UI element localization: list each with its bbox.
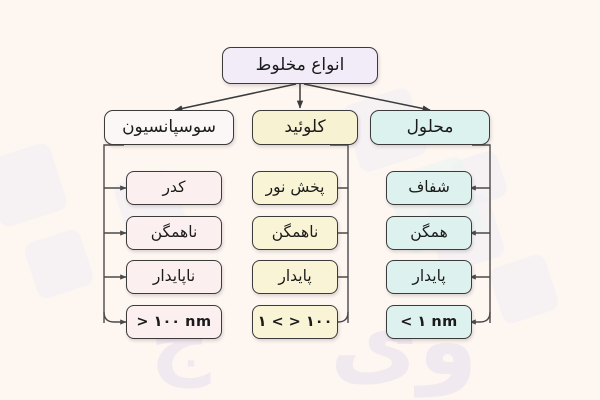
node-solution-item-2[interactable]: همگن bbox=[386, 216, 472, 250]
node-suspension-item-1-label: کدر bbox=[163, 180, 186, 196]
node-solution-item-2-label: همگن bbox=[410, 225, 448, 241]
node-colloid-item-3[interactable]: پایدار bbox=[252, 260, 338, 294]
node-colloid-item-4-label: ۱ < > ۱۰۰ bbox=[258, 315, 333, 330]
node-suspension-item-3[interactable]: ناپایدار bbox=[126, 260, 222, 294]
node-colloid-item-1[interactable]: پخش نور bbox=[252, 171, 338, 205]
node-root-label: انواع مخلوط bbox=[256, 57, 345, 74]
node-solution-item-3[interactable]: پایدار bbox=[386, 260, 472, 294]
node-solution-item-1-label: شفاف bbox=[408, 180, 450, 196]
node-header-solution[interactable]: محلول bbox=[370, 110, 490, 145]
node-header-suspension-label: سوسپانسیون bbox=[122, 119, 216, 136]
node-header-colloid[interactable]: کلوئید bbox=[252, 110, 358, 145]
node-solution-item-4[interactable]: < ۱ nm bbox=[386, 305, 472, 339]
background-watermark-text: وی bbox=[330, 285, 478, 397]
node-colloid-item-3-label: پایدار bbox=[278, 269, 311, 285]
node-suspension-item-2-label: ناهمگن bbox=[151, 225, 198, 241]
diagram-canvas: وی ج ان bbox=[0, 0, 600, 400]
background-watermark-shape bbox=[487, 252, 560, 325]
background-watermark-shape bbox=[0, 141, 69, 229]
node-colloid-item-4[interactable]: ۱ < > ۱۰۰ bbox=[252, 305, 338, 339]
node-root[interactable]: انواع مخلوط bbox=[222, 47, 378, 84]
node-solution-item-4-label: < ۱ nm bbox=[400, 315, 458, 330]
background-watermark-shape bbox=[22, 227, 95, 300]
node-suspension-item-2[interactable]: ناهمگن bbox=[126, 216, 222, 250]
node-colloid-item-2-label: ناهمگن bbox=[272, 225, 319, 241]
node-suspension-item-4-label: > ۱۰۰ nm bbox=[136, 315, 211, 330]
node-suspension-item-4[interactable]: > ۱۰۰ nm bbox=[126, 305, 222, 339]
node-header-solution-label: محلول bbox=[407, 119, 454, 136]
node-colloid-item-1-label: پخش نور bbox=[266, 180, 325, 196]
node-suspension-item-1[interactable]: کدر bbox=[126, 171, 222, 205]
node-solution-item-3-label: پایدار bbox=[412, 269, 445, 285]
node-header-colloid-label: کلوئید bbox=[284, 119, 325, 136]
node-colloid-item-2[interactable]: ناهمگن bbox=[252, 216, 338, 250]
node-header-suspension[interactable]: سوسپانسیون bbox=[104, 110, 234, 145]
node-solution-item-1[interactable]: شفاف bbox=[386, 171, 472, 205]
node-suspension-item-3-label: ناپایدار bbox=[153, 269, 195, 285]
